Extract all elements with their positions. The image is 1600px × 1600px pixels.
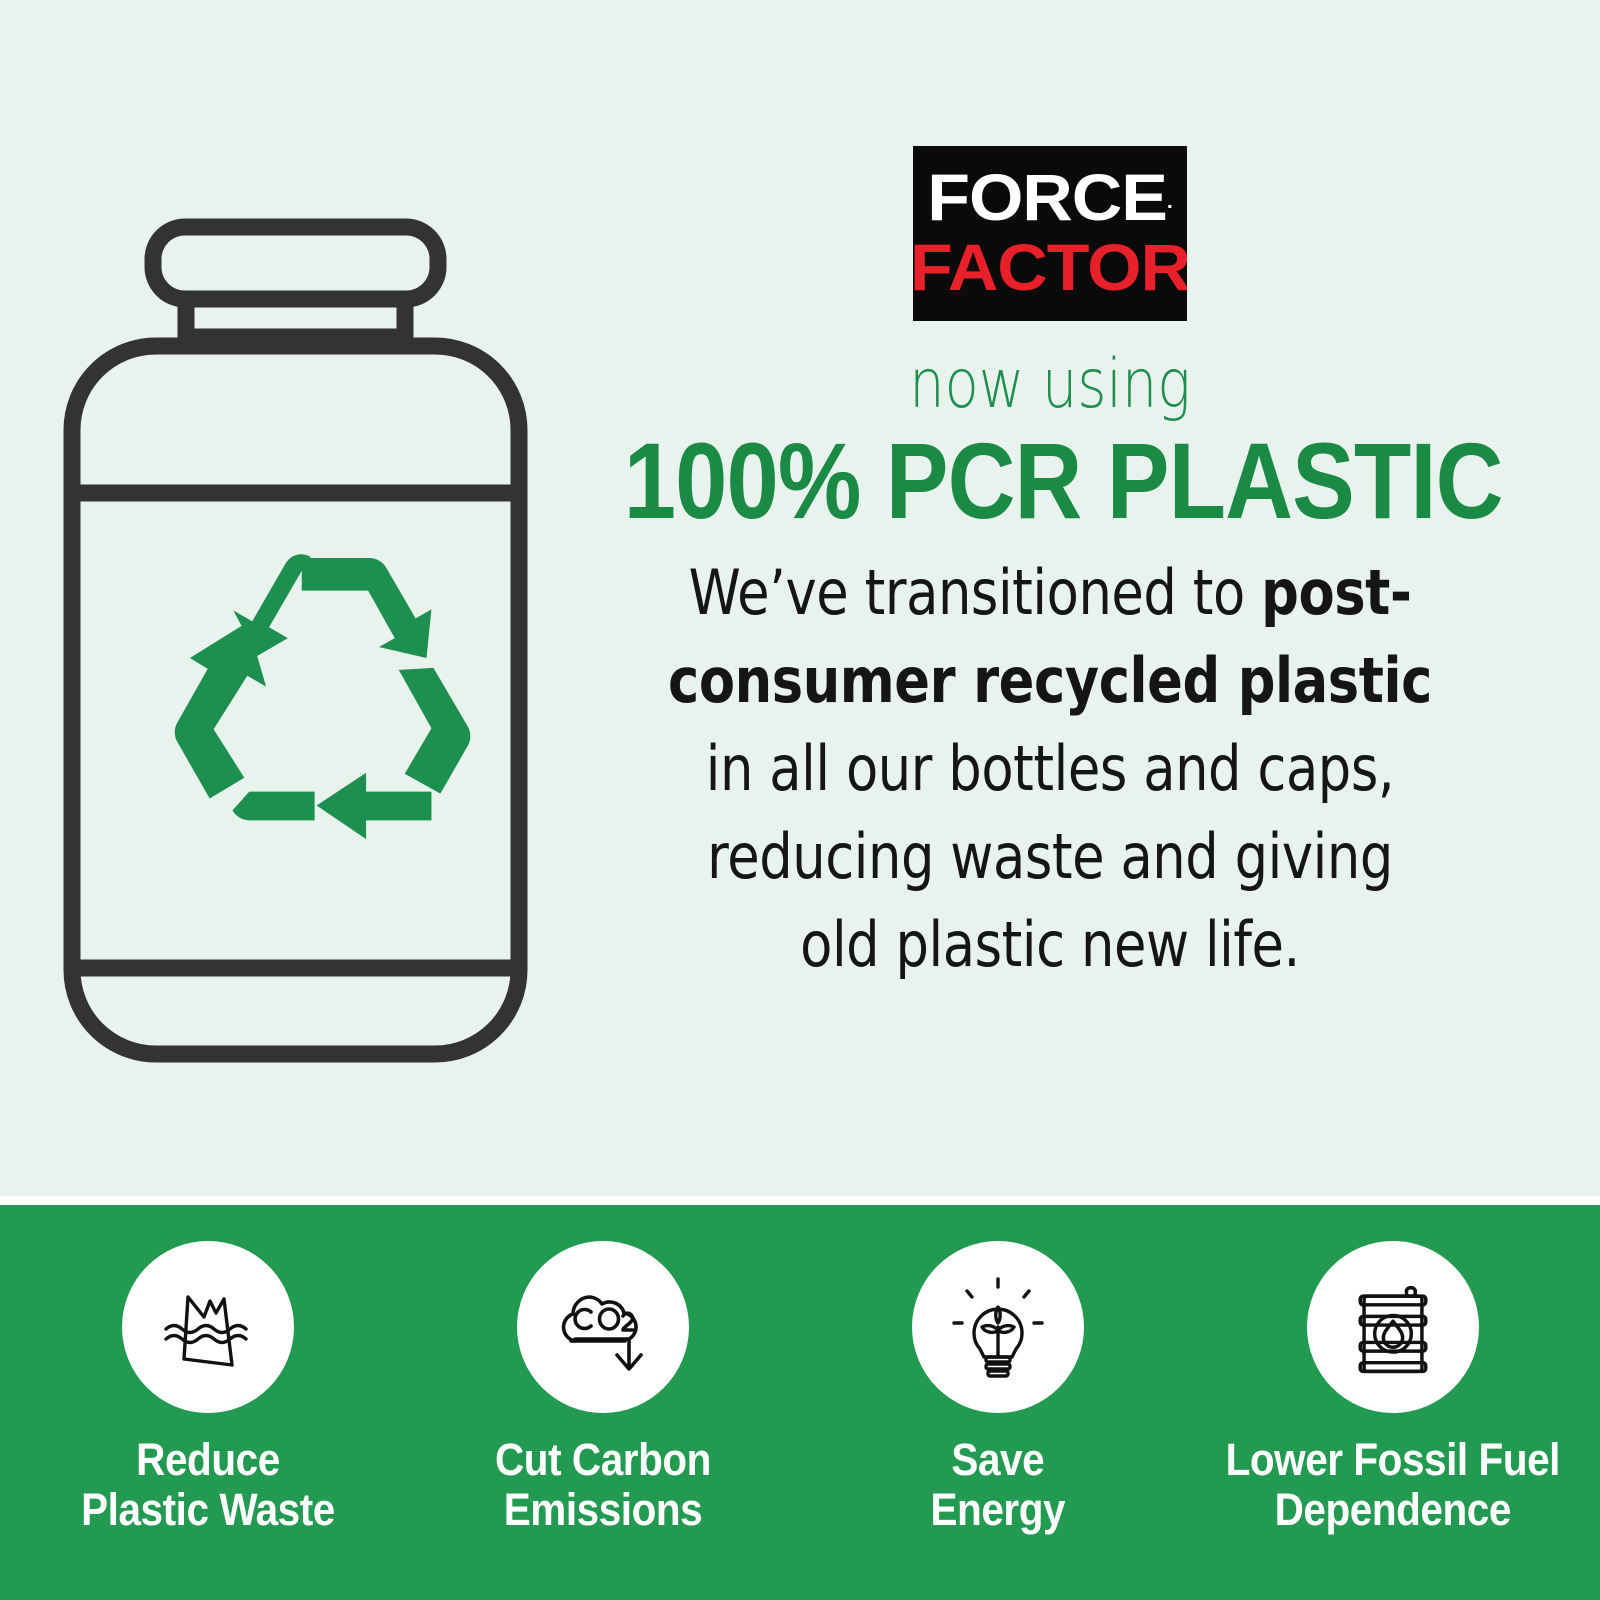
band-divider	[0, 1196, 1600, 1205]
bottle-cap	[153, 227, 438, 299]
benefit-item-save-energy: Save Energy	[800, 1241, 1195, 1535]
benefits-band: Reduce Plastic Waste	[0, 1205, 1600, 1600]
body-tail: in all our bottles and caps, reducing wa…	[706, 732, 1394, 981]
recycle-symbol	[175, 554, 471, 839]
co2-cloud-down-arrow-icon	[547, 1271, 659, 1383]
logo-force-text: FORCE	[927, 160, 1167, 234]
benefit-item-cut-carbon-emissions: Cut Carbon Emissions	[405, 1241, 800, 1535]
benefit-item-reduce-plastic-waste: Reduce Plastic Waste	[10, 1241, 405, 1535]
plastic-bag-in-water-icon	[154, 1273, 262, 1381]
logo-word-factor: FACTOR	[913, 234, 1187, 300]
logo-word-force: FORCE.	[913, 164, 1187, 235]
right-column: FORCE. FACTOR now using 100% PCR PLASTIC…	[560, 130, 1540, 989]
benefit-icon-circle	[1307, 1241, 1479, 1413]
oil-drum-droplet-icon	[1339, 1273, 1447, 1381]
registered-mark: .	[1167, 191, 1173, 213]
top-section: FORCE. FACTOR now using 100% PCR PLASTIC…	[0, 0, 1600, 1203]
benefit-icon-circle	[517, 1241, 689, 1413]
lightbulb-sprout-icon	[942, 1271, 1054, 1383]
benefit-item-lower-fossil-fuel: Lower Fossil Fuel Dependence	[1195, 1241, 1590, 1535]
benefit-icon-circle	[122, 1241, 294, 1413]
pcr-plastic-infographic: FORCE. FACTOR now using 100% PCR PLASTIC…	[0, 0, 1600, 1600]
benefit-icon-circle	[912, 1241, 1084, 1413]
bottle-illustration	[60, 215, 530, 1070]
benefit-label: Reduce Plastic Waste	[81, 1435, 335, 1535]
benefit-label: Save Energy	[930, 1435, 1065, 1535]
benefit-label: Cut Carbon Emissions	[494, 1435, 710, 1535]
body-copy: We’ve transitioned to post-consumer recy…	[668, 549, 1433, 989]
eyebrow-text: now using	[648, 347, 1452, 423]
headline-text: 100% PCR PLASTIC	[624, 425, 1477, 537]
brand-logo: FORCE. FACTOR	[913, 146, 1187, 321]
benefit-label: Lower Fossil Fuel Dependence	[1225, 1435, 1559, 1535]
body-lead: We’ve transitioned to	[689, 556, 1262, 629]
